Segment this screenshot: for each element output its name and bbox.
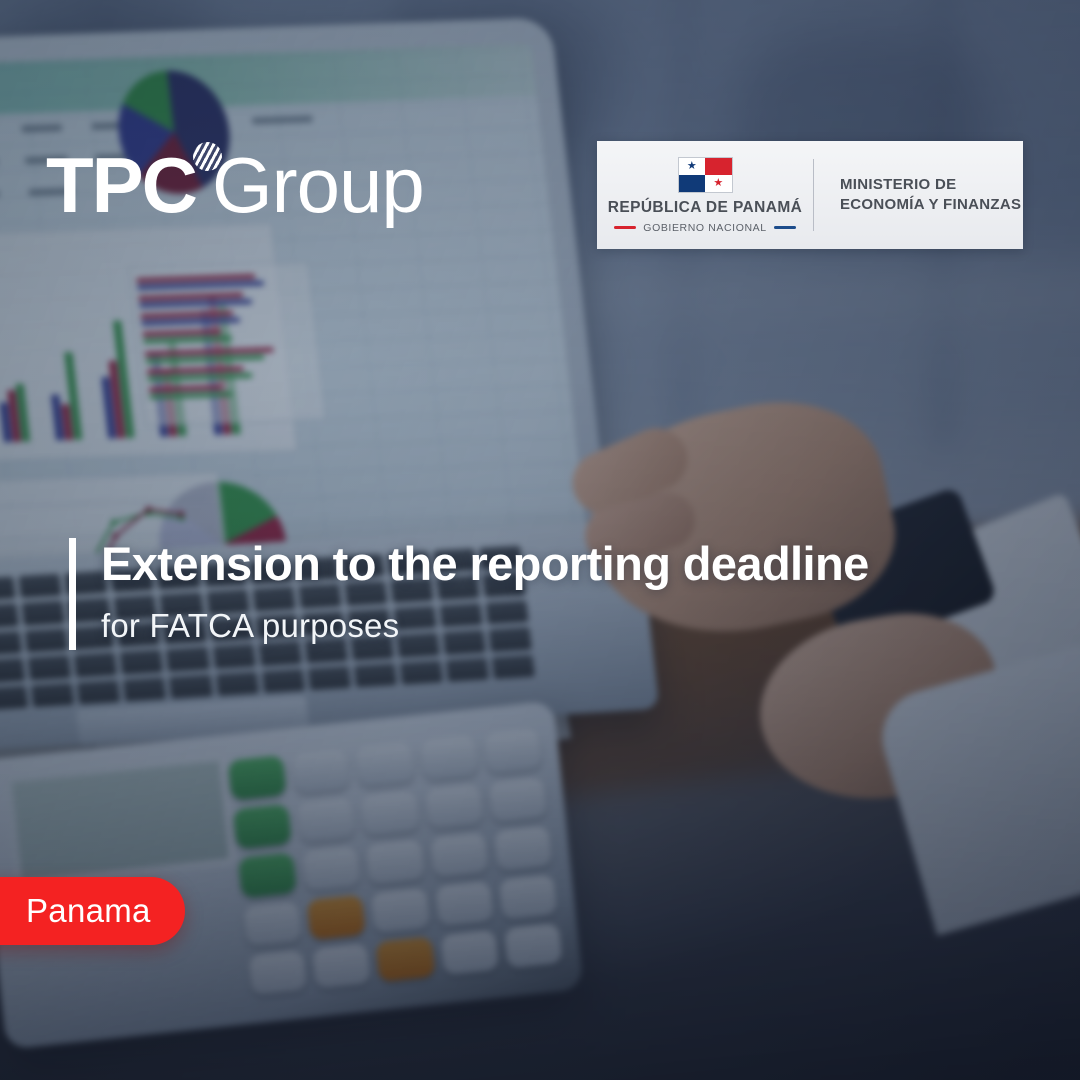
ministry-name-block: MINISTERIO DE ECONOMÍA Y FINANZAS — [814, 175, 1023, 215]
country-title: REPÚBLICA DE PANAMÁ — [608, 199, 802, 217]
ministry-logo-box: ★ ★ REPÚBLICA DE PANAMÁ GOBIERNO NACIONA… — [597, 141, 1023, 249]
headline-title: Extension to the reporting deadline — [101, 540, 869, 587]
logo-bold-text: TPC — [46, 150, 196, 220]
panama-flag-icon: ★ ★ — [678, 157, 733, 193]
country-badge: Panama — [0, 877, 185, 945]
gobierno-nacional-row: GOBIERNO NACIONAL — [614, 222, 795, 234]
headline-block: Extension to the reporting deadline for … — [69, 538, 869, 650]
headline-subtitle: for FATCA purposes — [101, 609, 869, 642]
striped-circle-icon — [193, 142, 222, 171]
headline-accent-bar — [69, 538, 76, 650]
tpc-group-logo: TPC Group — [46, 150, 424, 220]
country-subtitle: GOBIERNO NACIONAL — [643, 222, 766, 234]
logo-light-text: Group — [212, 150, 424, 220]
red-dash-icon — [614, 226, 636, 229]
ministry-line-1: MINISTERIO DE — [840, 175, 1023, 195]
republic-of-panama-block: ★ ★ REPÚBLICA DE PANAMÁ GOBIERNO NACIONA… — [597, 157, 813, 234]
country-badge-label: Panama — [26, 892, 151, 930]
blue-dash-icon — [774, 226, 796, 229]
banner-canvas: TPC Group ★ ★ REPÚBLICA DE PANAMÁ GOBIER… — [0, 0, 1080, 1080]
ministry-line-2: ECONOMÍA Y FINANZAS — [840, 195, 1023, 215]
